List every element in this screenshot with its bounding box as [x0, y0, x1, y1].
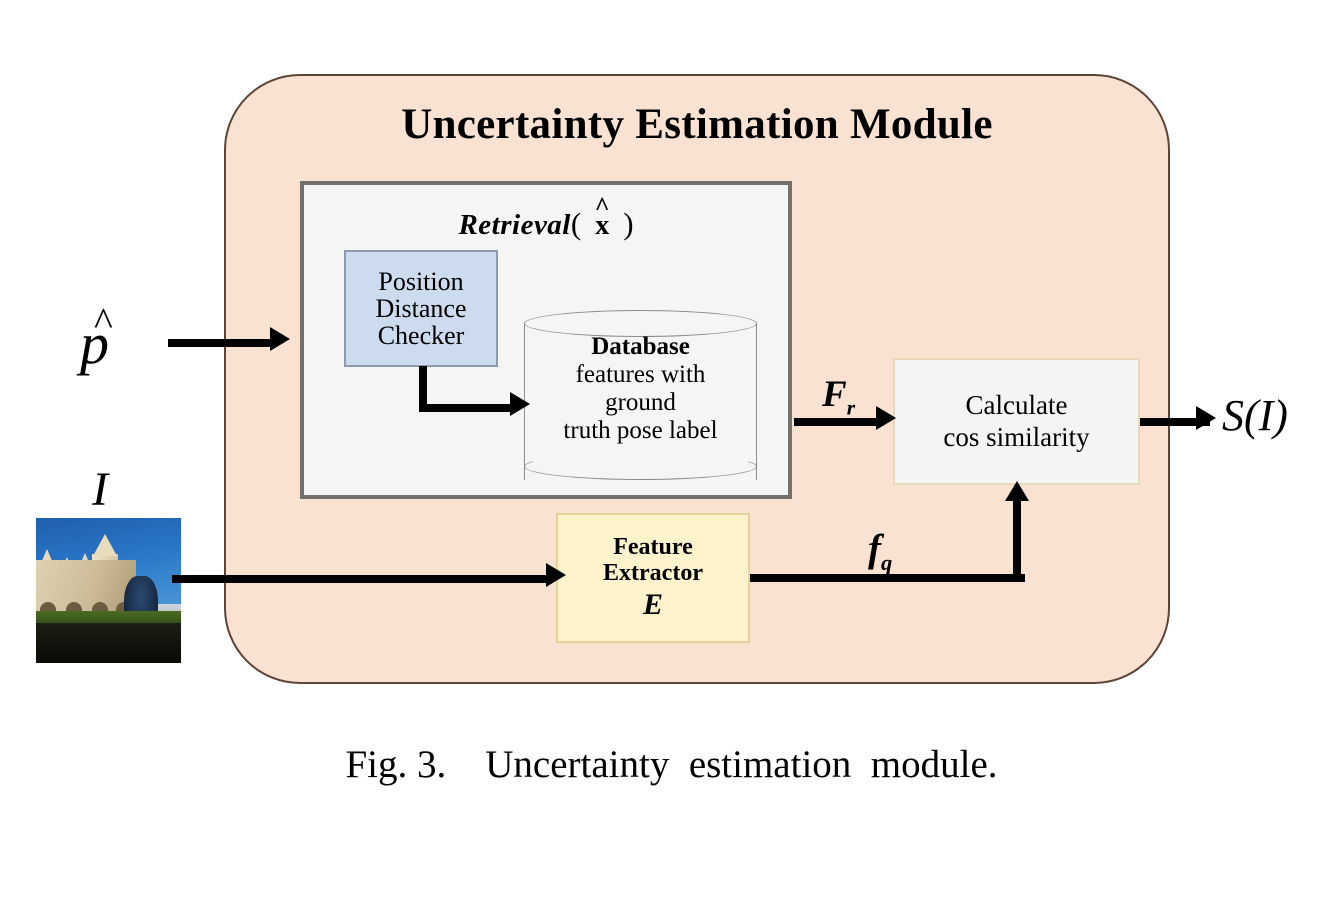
arrow-pose-to-retrieval-head [270, 327, 290, 351]
feature-extractor-line-2: Extractor [603, 561, 703, 587]
retrieval-paren-open: ( [571, 206, 581, 241]
database-line-1: features with [576, 361, 706, 388]
label-fq-base: f [868, 527, 881, 570]
label-Fr-subscript: r [847, 395, 855, 419]
label-output-score: S(I) [1222, 390, 1288, 441]
arrow-extractor-to-calculate-horizontal [750, 574, 1025, 582]
label-Fr-base: F [822, 374, 847, 415]
arrow-calculate-to-output-head [1196, 406, 1216, 430]
retrieval-label: Retrieval(^x) [300, 206, 792, 242]
label-query-feature: fq [868, 526, 892, 576]
feature-extractor-box: Feature Extractor E [556, 513, 750, 643]
database-title: Database [524, 333, 757, 361]
figure-uncertainty-estimation-module: Uncertainty Estimation Module Retrieval(… [0, 0, 1343, 921]
hat-accent-icon: ^ [595, 194, 610, 220]
label-retrieved-features: Fr [822, 373, 855, 420]
arrow-pose-to-retrieval-line [168, 339, 272, 347]
calculate-line-1: Calculate [966, 390, 1068, 421]
query-image-thumbnail [36, 518, 181, 663]
figure-caption: Fig. 3. Uncertainty estimation module. [0, 742, 1343, 787]
arrow-image-to-extractor-line [172, 575, 548, 583]
database-line-2: ground [605, 389, 676, 416]
arrow-retrieval-to-calculate-head [876, 406, 896, 430]
checker-line-1: Position [378, 268, 463, 295]
label-image-input-I: I [92, 462, 108, 517]
label-fq-subscript: q [881, 550, 892, 575]
retrieval-paren-close: ) [623, 206, 633, 241]
cylinder-bottom-ellipse [524, 453, 757, 480]
retrieval-label-word: Retrieval [458, 209, 570, 241]
feature-extractor-symbol: E [643, 589, 663, 621]
retrieval-variable-x-hat: ^x [581, 210, 623, 242]
checker-line-2: Distance [376, 295, 467, 322]
arrow-retrieval-to-calculate-line [794, 418, 882, 426]
database-line-3: truth pose label [563, 417, 717, 444]
label-pose-input-p-hat: ^p [80, 310, 109, 377]
database-text: Database features with ground truth pose… [524, 333, 757, 445]
module-title: Uncertainty Estimation Module [224, 100, 1170, 149]
arrow-checker-to-database-head [510, 392, 530, 416]
p-hat-accent-icon: ^ [94, 302, 113, 342]
calculate-cos-similarity-box: Calculate cos similarity [893, 358, 1140, 485]
arrow-extractor-to-calculate-vertical [1013, 500, 1021, 582]
photo-foreground [36, 623, 181, 663]
arrow-image-to-extractor-head [546, 563, 566, 587]
position-distance-checker-box: Position Distance Checker [344, 250, 498, 367]
feature-extractor-line-1: Feature [613, 535, 693, 561]
calculate-line-2: cos similarity [943, 422, 1089, 453]
arrow-extractor-to-calculate-head [1005, 481, 1029, 501]
arrow-checker-to-database-horizontal [419, 404, 515, 412]
checker-line-3: Checker [378, 322, 465, 349]
